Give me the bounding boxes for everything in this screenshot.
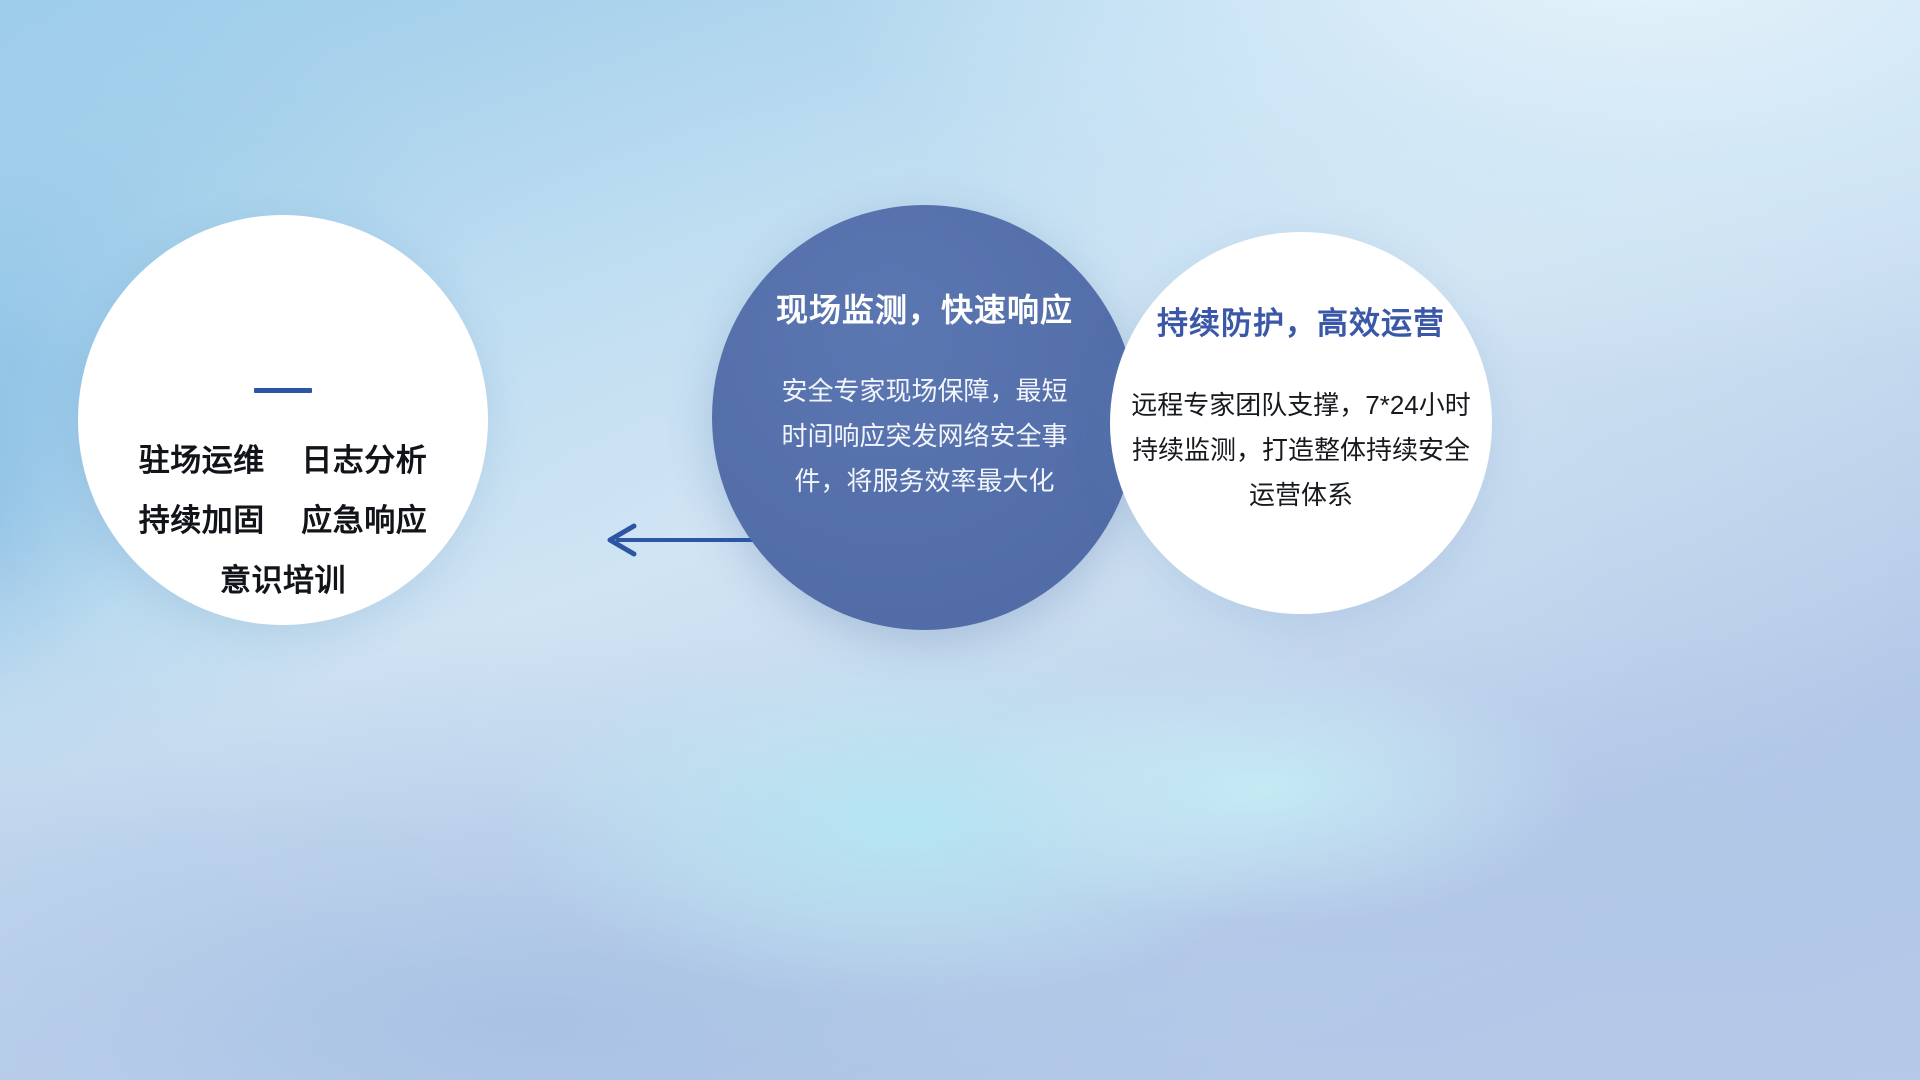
service-capability-circle-left[interactable]: 驻场运维 日志分析 持续加固 应急响应 意识培训 xyxy=(78,215,488,625)
circle-middle-body-text: 安全专家现场保障，最短时间响应突发网络安全事件，将服务效率最大化 xyxy=(775,369,1075,504)
service-capability-circle-middle[interactable]: 现场监测，快速响应 安全专家现场保障，最短时间响应突发网络安全事件，将服务效率最… xyxy=(712,205,1137,630)
circle-right-body-text: 远程专家团队支撑，7*24小时持续监测，打造整体持续安全运营体系 xyxy=(1126,383,1476,518)
slide-canvas: 驻场运维 日志分析 持续加固 应急响应 意识培训 现场监测，快速响应 安全专家现… xyxy=(0,0,1920,1080)
divider-dash xyxy=(254,388,312,393)
capability-keyword-line: 持续加固 应急响应 xyxy=(139,491,427,551)
capability-keyword-list: 驻场运维 日志分析 持续加固 应急响应 意识培训 xyxy=(139,431,427,611)
circle-middle-heading: 现场监测，快速响应 xyxy=(776,285,1073,331)
capability-keyword-line: 驻场运维 日志分析 xyxy=(139,431,427,491)
service-capability-circle-right[interactable]: 持续防护，高效运营 远程专家团队支撑，7*24小时持续监测，打造整体持续安全运营… xyxy=(1110,232,1492,614)
capability-keyword-line: 意识培训 xyxy=(139,551,427,611)
circle-right-heading: 持续防护，高效运营 xyxy=(1157,298,1445,343)
